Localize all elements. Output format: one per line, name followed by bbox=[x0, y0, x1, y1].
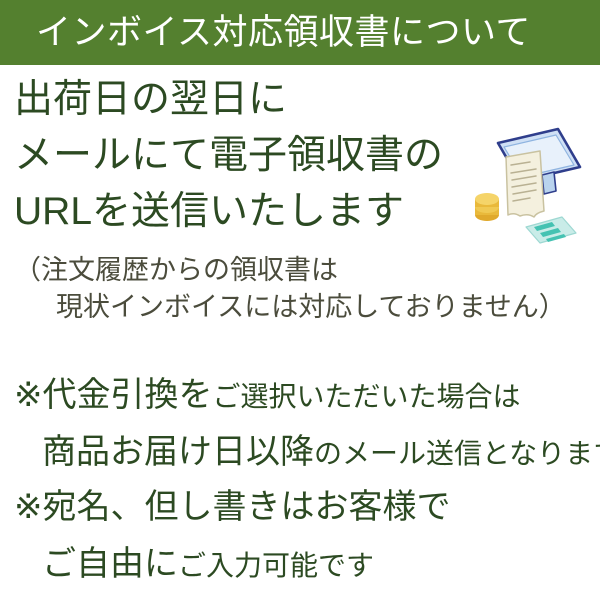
headline-block: 出荷日の翌日に メールにて電子領収書の URLを送信いたします bbox=[14, 72, 534, 240]
note-1-line-1-rest: ご選択いただいた場合は bbox=[213, 381, 521, 412]
paren-note-line-1: （注文履歴からの領収書は bbox=[14, 252, 584, 289]
invoice-receipt-banner: インボイス対応領収書について 出荷日の翌日に メールにて電子領収書の URLを送… bbox=[0, 0, 600, 600]
coin-stack-icon bbox=[475, 193, 499, 221]
note-1-line-2: 商品お届け日以降のメール送信となります bbox=[14, 427, 594, 484]
headline-line-2: メールにて電子領収書の bbox=[14, 128, 534, 184]
body-area: 出荷日の翌日に メールにて電子領収書の URLを送信いたします （注文履歴からの… bbox=[0, 65, 600, 600]
note-block-addressee: ※宛名、但し書きはお客様で ご自由にご入力可能です bbox=[14, 482, 594, 596]
electronic-receipt-illustration bbox=[470, 115, 595, 250]
note-block-cash-on-delivery: ※代金引換をご選択いただいた場合は 商品お届け日以降のメール送信となります bbox=[14, 370, 594, 484]
note-1-line-1: ※代金引換をご選択いただいた場合は bbox=[14, 370, 594, 427]
headline-line-3: URLを送信いたします bbox=[14, 184, 534, 240]
calculator-icon bbox=[526, 217, 576, 243]
paren-note-line-2: 現状インボイスには対応しておりません） bbox=[14, 289, 584, 326]
note-2-line-1: ※宛名、但し書きはお客様で bbox=[14, 482, 594, 539]
paren-note-block: （注文履歴からの領収書は 現状インボイスには対応しておりません） bbox=[14, 252, 584, 326]
header-band: インボイス対応領収書について bbox=[0, 0, 600, 65]
note-1-line-1-emphasis: ※代金引換を bbox=[14, 376, 213, 414]
page-title: インボイス対応領収書について bbox=[36, 13, 531, 53]
note-2-line-2: ご自由にご入力可能です bbox=[14, 539, 594, 596]
note-2-line-2-rest: ご入力可能です bbox=[178, 550, 374, 581]
note-2-line-1-emphasis: ※宛名、但し書きはお客様で bbox=[14, 488, 451, 526]
headline-line-1: 出荷日の翌日に bbox=[14, 72, 534, 128]
note-1-line-2-rest: のメール送信となります bbox=[314, 438, 600, 469]
receipt-document-icon bbox=[506, 151, 544, 217]
note-2-line-2-emphasis: ご自由に bbox=[42, 545, 178, 583]
note-1-line-2-emphasis: 商品お届け日以降 bbox=[42, 433, 314, 471]
